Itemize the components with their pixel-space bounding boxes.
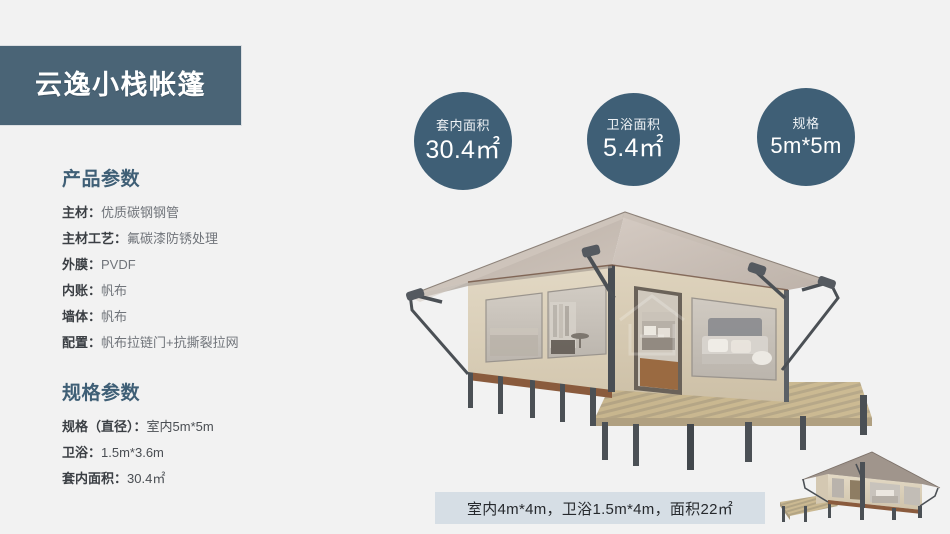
tent-corner-post (608, 264, 615, 392)
tent-wall-left (468, 265, 612, 390)
stat-badge-value: 30.4㎡ (425, 137, 500, 163)
spec-row: 内账：帆布 (62, 278, 362, 304)
spec-label: 规格（直径）： (62, 419, 147, 434)
spec-row: 套内面积：30.4㎡ (62, 466, 362, 492)
spec-label: 墙体： (62, 309, 101, 324)
stat-badge-label: 卫浴面积 (606, 118, 660, 132)
spec-value: 氟碳漆防锈处理 (127, 231, 218, 246)
spec-row: 外膜：PVDF (62, 252, 362, 278)
spec-section-size-parameters: 规格参数 规格（直径）：室内5m*5m 卫浴：1.5m*3.6m 套内面积：30… (62, 378, 362, 492)
spec-value: 帆布 (101, 283, 127, 298)
caption-text: 室内4m*4m，卫浴1.5m*4m，面积22㎡ (467, 498, 733, 519)
spec-row: 配置：帆布拉链门+抗撕裂拉网 (62, 330, 362, 356)
stat-badge-interior-area: 套内面积 30.4㎡ (414, 92, 512, 190)
spec-row: 主材工艺：氟碳漆防锈处理 (62, 226, 362, 252)
stat-badge-label: 套内面积 (436, 119, 490, 133)
stat-badge-bathroom-area: 卫浴面积 5.4㎡ (587, 93, 680, 186)
tent-thumb-svg (772, 444, 944, 532)
spec-label: 主材工艺： (62, 231, 127, 246)
product-title-banner: 云逸小栈帐篷 (0, 46, 241, 125)
spec-value: PVDF (101, 257, 136, 272)
spec-row: 主材：优质碳钢钢管 (62, 200, 362, 226)
spec-value: 帆布拉链门+抗撕裂拉网 (101, 335, 239, 350)
spec-value: 优质碳钢钢管 (101, 205, 179, 220)
spec-section-product-parameters: 产品参数 主材：优质碳钢钢管 主材工艺：氟碳漆防锈处理 外膜：PVDF 内账：帆… (62, 164, 362, 356)
spec-label: 内账： (62, 283, 101, 298)
page-title: 云逸小栈帐篷 (35, 72, 206, 99)
spec-row: 卫浴：1.5m*3.6m (62, 440, 362, 466)
spec-label: 主材： (62, 205, 101, 220)
product-spec-page: 云逸小栈帐篷 产品参数 主材：优质碳钢钢管 主材工艺：氟碳漆防锈处理 外膜：PV… (0, 0, 950, 534)
stat-badge-value: 5m*5m (770, 134, 841, 157)
tent-illustration-thumbnail (772, 444, 944, 532)
stat-badge-label: 规格 (792, 117, 819, 131)
spec-section-heading: 产品参数 (62, 164, 362, 191)
spec-value: 30.4㎡ (127, 471, 165, 486)
spec-label: 套内面积： (62, 471, 127, 486)
spec-value: 帆布 (101, 309, 127, 324)
spec-row: 规格（直径）：室内5m*5m (62, 414, 362, 440)
spec-row: 墙体：帆布 (62, 304, 362, 330)
spec-label: 卫浴： (62, 445, 101, 460)
spec-value: 室内5m*5m (147, 419, 214, 434)
stat-badge-dimensions: 规格 5m*5m (757, 88, 855, 186)
spec-section-heading: 规格参数 (62, 378, 362, 405)
spec-label: 外膜： (62, 257, 101, 272)
spec-label: 配置： (62, 335, 101, 350)
stat-badge-value: 5.4㎡ (603, 135, 664, 161)
spec-value: 1.5m*3.6m (101, 445, 164, 460)
image-caption-bar: 室内4m*4m，卫浴1.5m*4m，面积22㎡ (435, 492, 765, 524)
specification-column: 产品参数 主材：优质碳钢钢管 主材工艺：氟碳漆防锈处理 外膜：PVDF 内账：帆… (62, 164, 362, 506)
